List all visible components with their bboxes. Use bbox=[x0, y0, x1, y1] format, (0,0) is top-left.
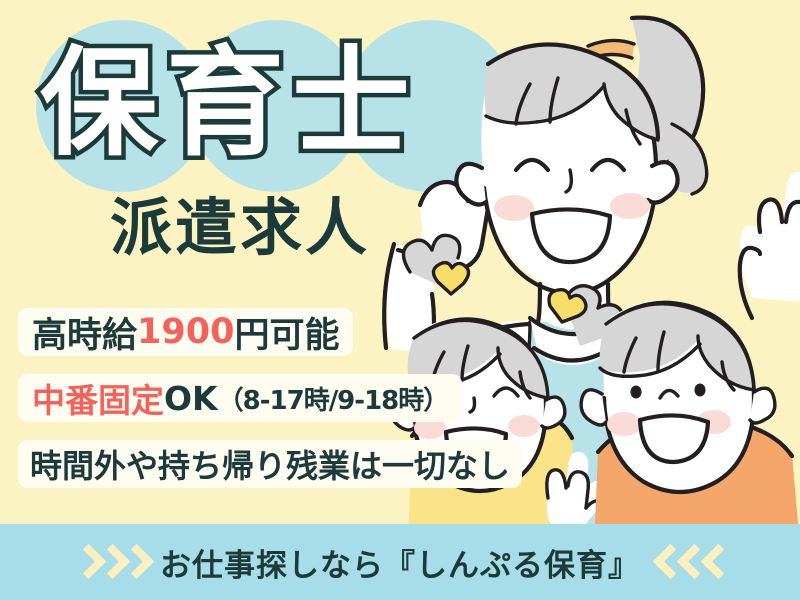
teacher-right-hand bbox=[740, 172, 800, 318]
chevron-left-icon bbox=[706, 545, 726, 579]
poster-canvas: .ln { fill:none; stroke:#231F20; stroke-… bbox=[0, 0, 800, 600]
feature-wage-suffix: 円可能 bbox=[234, 307, 339, 358]
chevron-right-icon bbox=[74, 545, 94, 579]
feature-shift-suffix: OK bbox=[164, 379, 218, 418]
feature-pill-wage: 高時給1900円可能 bbox=[18, 308, 353, 356]
chevron-left-group-right bbox=[658, 545, 726, 579]
feature-wage-amount: 1900 bbox=[137, 312, 234, 352]
feature-pill-shift: 中番固定OK（8-17時/9-18時） bbox=[18, 374, 462, 422]
chevron-right-icon bbox=[122, 545, 142, 579]
feature-overtime-text: 時間外や持ち帰り残業は一切なし bbox=[30, 441, 510, 487]
feature-wage-prefix: 高時給 bbox=[32, 307, 137, 358]
chevron-right-group-left bbox=[74, 545, 142, 579]
chevron-right-icon bbox=[98, 545, 118, 579]
page-subtitle: 派遣求人 bbox=[110, 192, 370, 264]
feature-pill-overtime: 時間外や持ち帰り残業は一切なし bbox=[18, 440, 522, 488]
page-title: 保育士 bbox=[40, 28, 418, 178]
child-boy-figure bbox=[581, 300, 800, 545]
feature-shift-highlight: 中番固定 bbox=[32, 374, 164, 422]
banner-tagline: お仕事探しなら『しんぷる保育』 bbox=[160, 540, 640, 585]
chevron-left-icon bbox=[658, 545, 678, 579]
feature-shift-note: （8-17時/9-18時） bbox=[218, 380, 449, 417]
bottom-banner: お仕事探しなら『しんぷる保育』 bbox=[0, 524, 800, 600]
chevron-left-icon bbox=[682, 545, 702, 579]
